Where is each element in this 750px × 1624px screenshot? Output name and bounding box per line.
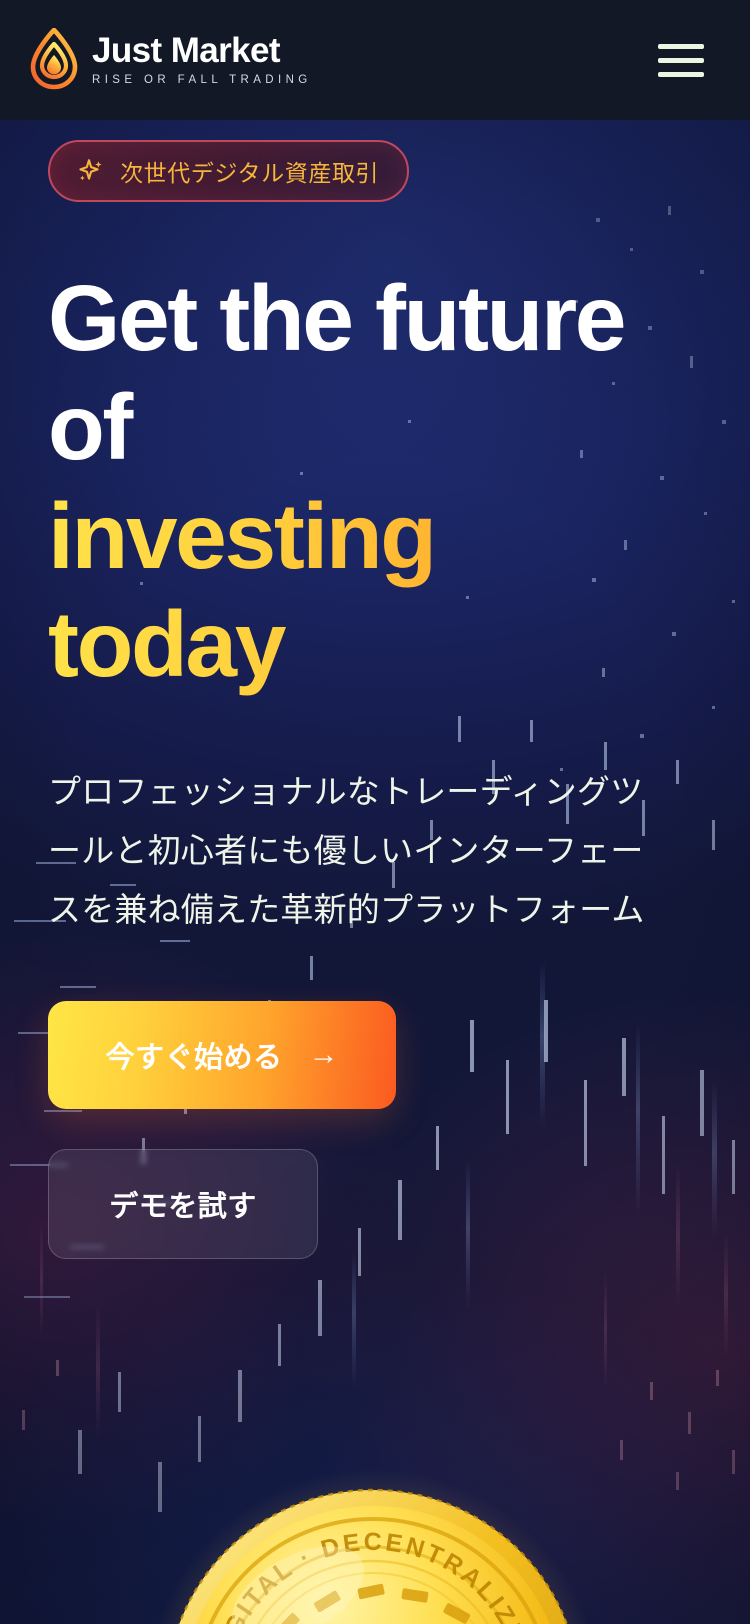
menu-bar-1 (658, 44, 704, 49)
flame-droplet-icon (30, 28, 78, 92)
brand-logo[interactable]: Just Market RISE OR FALL TRADING (30, 28, 312, 92)
arrow-right-icon: → (309, 1040, 339, 1070)
hero-actions: 今すぐ始める → デモを試す (48, 1001, 702, 1259)
menu-bar-3 (658, 72, 704, 77)
try-demo-label: デモを試す (109, 1183, 257, 1225)
try-demo-button[interactable]: デモを試す (48, 1149, 318, 1259)
headline-line-3: investing (48, 482, 702, 591)
page-title: Get the future of investing today (48, 264, 702, 699)
hero-badge[interactable]: 次世代デジタル資産取引 (48, 140, 409, 202)
gold-coin-icon: · DIGITAL · DECENTRALIZED · (148, 1462, 598, 1624)
headline-line-4: today (48, 590, 702, 699)
get-started-button[interactable]: 今すぐ始める → (48, 1001, 396, 1109)
menu-bar-2 (658, 58, 704, 63)
brand-text: Just Market RISE OR FALL TRADING (92, 33, 312, 86)
sparkles-icon (76, 157, 104, 185)
hero-subtitle: プロフェッショナルなトレーディングツールと初心者にも優しいインターフェースを兼ね… (48, 763, 668, 939)
site-header: Just Market RISE OR FALL TRADING (0, 0, 750, 120)
hero-content: 次世代デジタル資産取引 Get the future of investing … (0, 132, 750, 1259)
brand-name: Just Market (92, 33, 312, 70)
headline-line-2: of (48, 373, 702, 482)
page-root: Just Market RISE OR FALL TRADING (0, 0, 750, 1624)
hamburger-menu-icon[interactable] (650, 38, 704, 82)
hero-badge-label: 次世代デジタル資産取引 (120, 154, 379, 188)
brand-tagline: RISE OR FALL TRADING (92, 75, 312, 87)
headline-line-1: Get the future (48, 264, 702, 373)
get-started-label: 今すぐ始める (105, 1034, 282, 1076)
